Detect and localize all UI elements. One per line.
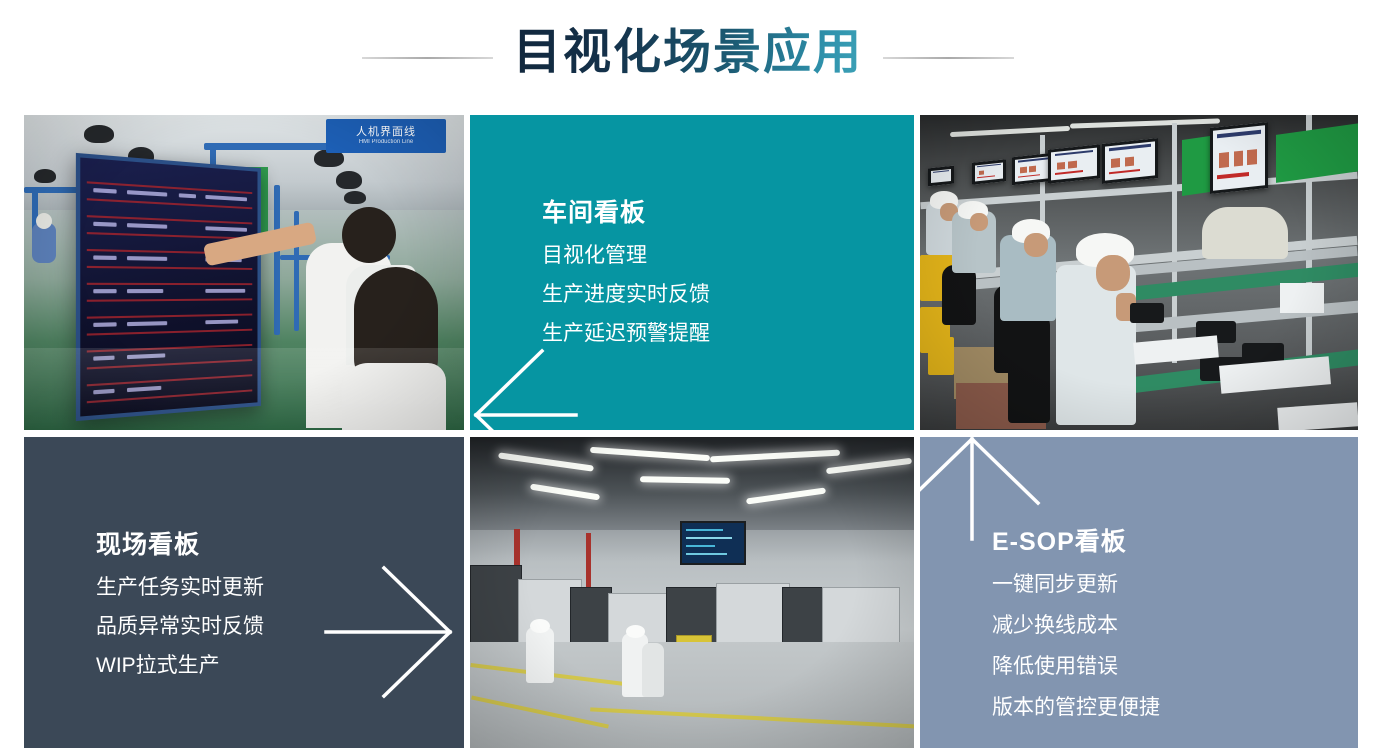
- panel-esop-kanban[interactable]: E-SOP看板 一键同步更新 减少换线成本 降低使用错误 版本的管控更便捷: [920, 437, 1358, 748]
- cell-photo-led-dashboard: 人机界面线 HMI Production Line: [24, 115, 464, 430]
- cell-photo-factory-hall: [470, 437, 914, 748]
- panel-line: 目视化管理: [542, 245, 894, 266]
- panel-workshop-kanban[interactable]: 车间看板 目视化管理 生产进度实时反馈 生产延迟预警提醒: [470, 115, 914, 430]
- photo-led-dashboard-shop-floor: 人机界面线 HMI Production Line: [24, 115, 464, 430]
- panel-body-site: 现场看板 生产任务实时更新 品质异常实时反馈 WIP拉式生产: [96, 525, 444, 694]
- panel-line: 生产进度实时反馈: [542, 284, 894, 305]
- sign-text-cn: 人机界面线: [356, 126, 416, 139]
- cell-photo-assembly-line: [920, 115, 1358, 430]
- panel-line: 版本的管控更便捷: [992, 697, 1338, 718]
- header-rule-right: [883, 57, 1014, 59]
- panel-line: 生产延迟预警提醒: [542, 323, 894, 344]
- photo-assembly-line-monitors: [920, 115, 1358, 430]
- panel-line: 降低使用错误: [992, 656, 1338, 677]
- panel-site-kanban[interactable]: 现场看板 生产任务实时更新 品质异常实时反馈 WIP拉式生产: [24, 437, 464, 748]
- photo-factory-hall-smt: [470, 437, 914, 748]
- panel-title-site: 现场看板: [96, 525, 444, 561]
- page-title: 目视化场景应用: [511, 25, 865, 87]
- header-rule-left: [362, 57, 493, 59]
- hmi-production-line-sign: 人机界面线 HMI Production Line: [326, 119, 446, 153]
- sign-text-en: HMI Production Line: [359, 139, 413, 146]
- panel-title-esop: E-SOP看板: [992, 522, 1338, 558]
- scenario-grid: 人机界面线 HMI Production Line: [24, 115, 1352, 748]
- panel-line: 一键同步更新: [992, 574, 1338, 595]
- panel-line: WIP拉式生产: [96, 655, 444, 676]
- panel-body-workshop: 车间看板 目视化管理 生产进度实时反馈 生产延迟预警提醒: [542, 193, 894, 362]
- page-header: 目视化场景应用: [0, 0, 1376, 112]
- panel-line: 生产任务实时更新: [96, 577, 444, 598]
- panel-body-esop: E-SOP看板 一键同步更新 减少换线成本 降低使用错误 版本的管控更便捷: [992, 522, 1338, 738]
- panel-line: 减少换线成本: [992, 615, 1338, 636]
- page-root: 目视化场景应用: [0, 0, 1376, 753]
- panel-title-workshop: 车间看板: [542, 193, 894, 229]
- panel-line: 品质异常实时反馈: [96, 616, 444, 637]
